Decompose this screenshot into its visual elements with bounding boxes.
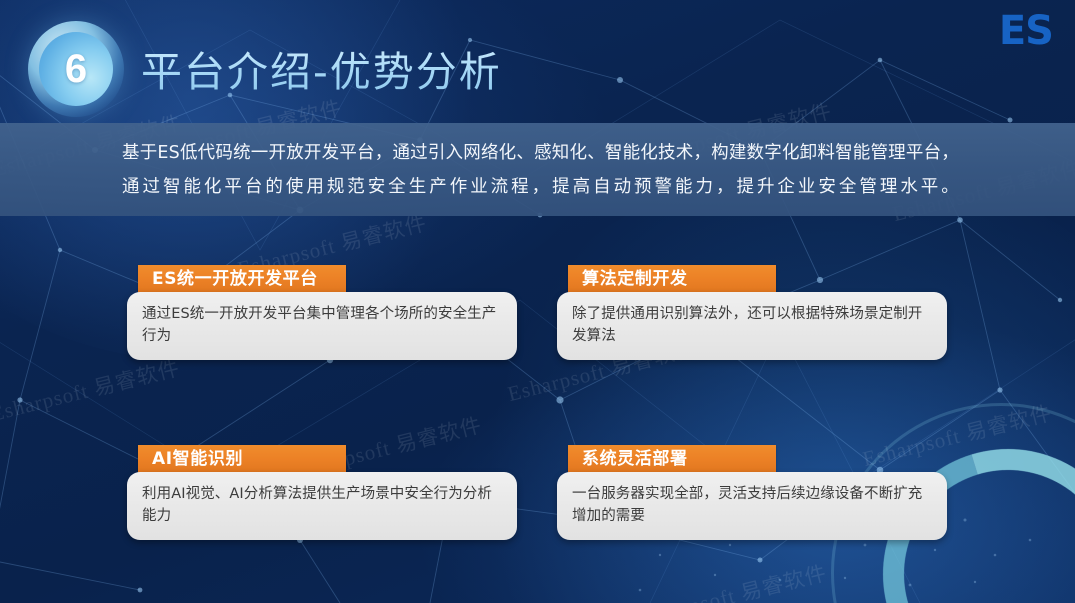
card-body: 除了提供通用识别算法外，还可以根据特殊场景定制开发算法: [557, 292, 947, 360]
card-tab-label: ES统一开放开发平台: [138, 265, 346, 294]
card-body: 通过ES统一开放开发平台集中管理各个场所的安全生产行为: [127, 292, 517, 360]
slide-header: 6 平台介绍-优势分析 ES: [0, 0, 1075, 123]
slide-number-badge-inner: 6: [39, 32, 113, 106]
card-description: 利用AI视觉、AI分析算法提供生产场景中安全行为分析能力: [142, 483, 502, 527]
card-description: 除了提供通用识别算法外，还可以根据特殊场景定制开发算法: [572, 303, 932, 347]
es-logo: ES: [999, 11, 1053, 51]
slide-number: 6: [65, 49, 87, 89]
card-tab-label: 算法定制开发: [568, 265, 776, 294]
card-body: 利用AI视觉、AI分析算法提供生产场景中安全行为分析能力: [127, 472, 517, 540]
slide-number-badge: 6: [28, 21, 124, 117]
card-body: 一台服务器实现全部，灵活支持后续边缘设备不断扩充增加的需要: [557, 472, 947, 540]
slide-canvas: Esharpsoft 易睿软件 Esharpsoft 易睿软件 Esharpso…: [0, 0, 1075, 603]
banner-description-text: 基于ES低代码统一开放开发平台，通过引入网络化、感知化、智能化技术，构建数字化卸…: [0, 136, 1075, 204]
card-description: 通过ES统一开放开发平台集中管理各个场所的安全生产行为: [142, 303, 502, 347]
card-tab-label: AI智能识别: [138, 445, 346, 474]
card-tab-label: 系统灵活部署: [568, 445, 776, 474]
page-title: 平台介绍-优势分析: [141, 38, 502, 98]
card-description: 一台服务器实现全部，灵活支持后续边缘设备不断扩充增加的需要: [572, 483, 932, 527]
advantage-cards-grid: ES统一开放开发平台 通过ES统一开放开发平台集中管理各个场所的安全生产行为 算…: [0, 216, 1075, 603]
description-banner: 基于ES低代码统一开放开发平台，通过引入网络化、感知化、智能化技术，构建数字化卸…: [0, 123, 1075, 216]
